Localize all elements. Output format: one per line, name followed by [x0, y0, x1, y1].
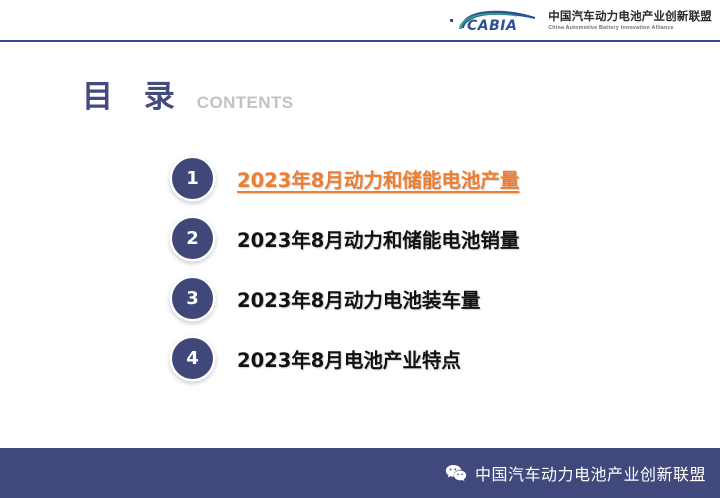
- brand-divider: [450, 19, 453, 22]
- cabia-logo-icon: CABIA: [455, 8, 541, 35]
- contents-item-1[interactable]: 1 2023年8月动力和储能电池产量: [172, 148, 652, 208]
- contents-number-badge: 1: [172, 158, 213, 199]
- org-name-en: China Automotive Battery Innovation Alli…: [548, 26, 712, 31]
- page-footer: 中国汽车动力电池产业创新联盟: [0, 448, 720, 498]
- footer-org-name: 中国汽车动力电池产业创新联盟: [475, 461, 706, 485]
- contents-item-label[interactable]: 2023年8月动力电池装车量: [237, 284, 480, 313]
- footer-brand-lockup: 中国汽车动力电池产业创新联盟: [445, 448, 706, 498]
- contents-item-label[interactable]: 2023年8月动力和储能电池销量: [237, 224, 519, 253]
- contents-item-3[interactable]: 3 2023年8月动力电池装车量: [172, 268, 652, 328]
- brand-lockup: CABIA 中国汽车动力电池产业创新联盟 China Automotive Ba…: [455, 8, 712, 35]
- contents-item-label[interactable]: 2023年8月动力和储能电池产量: [237, 164, 519, 193]
- wechat-icon: [445, 464, 467, 483]
- contents-item-2[interactable]: 2 2023年8月动力和储能电池销量: [172, 208, 652, 268]
- contents-list: 1 2023年8月动力和储能电池产量 2 2023年8月动力和储能电池销量 3 …: [172, 148, 652, 388]
- page-title: 目 录 CONTENTS: [82, 82, 294, 113]
- contents-item-label[interactable]: 2023年8月电池产业特点: [237, 344, 461, 373]
- header-divider-rule: [0, 40, 720, 42]
- org-name-cn: 中国汽车动力电池产业创新联盟: [548, 12, 712, 24]
- page-header: CABIA 中国汽车动力电池产业创新联盟 China Automotive Ba…: [0, 0, 720, 41]
- page-title-en: CONTENTS: [197, 94, 294, 113]
- brand-text-block: 中国汽车动力电池产业创新联盟 China Automotive Battery …: [548, 12, 712, 31]
- contents-number-badge: 3: [172, 278, 213, 319]
- page-title-cn: 目 录: [82, 82, 185, 113]
- contents-item-4[interactable]: 4 2023年8月电池产业特点: [172, 328, 652, 388]
- contents-number-badge: 4: [172, 338, 213, 379]
- contents-number-badge: 2: [172, 218, 213, 259]
- svg-text:CABIA: CABIA: [467, 18, 517, 34]
